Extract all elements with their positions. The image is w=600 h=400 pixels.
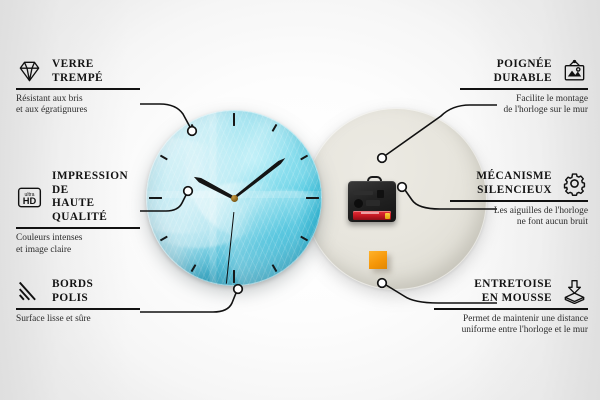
feature-header: MÉCANISME SILENCIEUX xyxy=(450,170,588,197)
feature-title: MÉCANISME SILENCIEUX xyxy=(476,170,552,197)
ultra-hd-icon: ultra HD xyxy=(16,185,43,210)
foam-spacer xyxy=(369,251,387,269)
feature-rule xyxy=(16,88,140,90)
clock-mechanism xyxy=(348,176,396,222)
feature-mecanisme-silencieux: MÉCANISME SILENCIEUX Les aiguilles de l'… xyxy=(450,170,588,229)
feature-rule xyxy=(434,308,588,310)
mechanism-battery xyxy=(353,211,391,220)
feature-description: Permet de maintenir une distance uniform… xyxy=(434,314,588,337)
gear-icon xyxy=(561,171,588,196)
mechanism-detail xyxy=(377,190,384,198)
diamond-icon xyxy=(16,59,43,84)
feature-header: POIGNÉE DURABLE xyxy=(460,58,588,85)
mechanism-detail xyxy=(366,200,380,206)
battery-label-stripe xyxy=(361,212,379,214)
spacer-pad-icon xyxy=(561,279,588,304)
feature-entretoise-en-mousse: ENTRETOISE EN MOUSSE Permet de maintenir… xyxy=(434,278,588,337)
polished-edges-icon xyxy=(16,279,43,304)
clock-front-face xyxy=(146,110,322,286)
infographic-canvas: VERRE TREMPÉ Résistant aux bris et aux é… xyxy=(0,0,600,400)
battery-positive-tip xyxy=(385,213,390,219)
feature-title: VERRE TREMPÉ xyxy=(52,58,103,85)
feature-description: Couleurs intenses et image claire xyxy=(16,233,140,256)
feature-title: IMPRESSION DE HAUTE QUALITÉ xyxy=(52,170,140,224)
feature-header: BORDS POLIS xyxy=(16,278,140,305)
feature-bords-polis: BORDS POLIS Surface lisse et sûre xyxy=(16,278,140,325)
feature-description: Facilite le montage de l'horloge sur le … xyxy=(460,94,588,117)
feature-rule xyxy=(450,200,588,202)
feature-rule xyxy=(16,227,140,229)
mechanism-detail xyxy=(354,199,363,208)
feature-description: Surface lisse et sûre xyxy=(16,314,140,326)
feature-rule xyxy=(16,308,140,310)
feature-title: BORDS POLIS xyxy=(52,278,93,305)
ultra-hd-icon-main-text: HD xyxy=(23,196,37,206)
mechanism-body xyxy=(348,181,396,222)
feature-header: ENTRETOISE EN MOUSSE xyxy=(434,278,588,305)
feature-description: Les aiguilles de l'horloge ne font aucun… xyxy=(450,206,588,229)
feature-header: ultra HD IMPRESSION DE HAUTE QUALITÉ xyxy=(16,170,140,224)
feature-title: POIGNÉE DURABLE xyxy=(494,58,552,85)
mechanism-detail xyxy=(353,191,373,195)
feature-impression-haute-qualite: ultra HD IMPRESSION DE HAUTE QUALITÉ Cou… xyxy=(16,170,140,256)
picture-frame-hanger-icon xyxy=(561,59,588,84)
feature-header: VERRE TREMPÉ xyxy=(16,58,140,85)
feature-rule xyxy=(460,88,588,90)
clock-center-cap xyxy=(231,195,238,202)
feature-title: ENTRETOISE EN MOUSSE xyxy=(474,278,552,305)
feature-verre-trempe: VERRE TREMPÉ Résistant aux bris et aux é… xyxy=(16,58,140,117)
feature-poignee-durable: POIGNÉE DURABLE Facilite le montage de l… xyxy=(460,58,588,117)
feature-description: Résistant aux bris et aux égratignures xyxy=(16,94,140,117)
